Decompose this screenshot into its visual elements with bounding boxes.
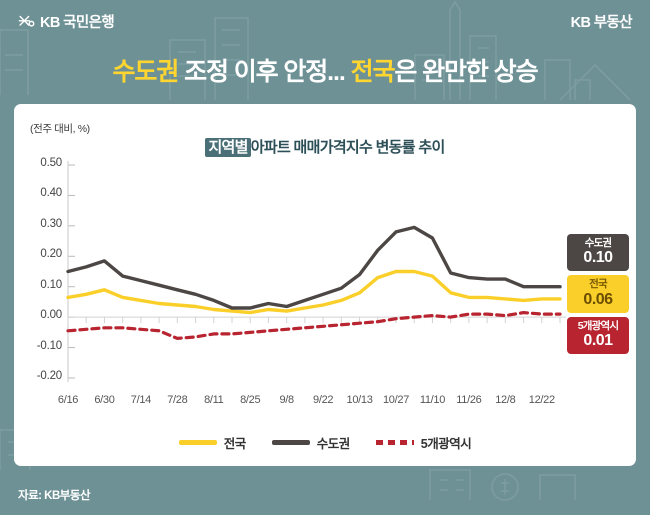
badge-sudogwon-value: 0.10 <box>567 249 629 267</box>
y-axis-tick: 0.30 <box>18 218 62 230</box>
legend-swatch-5metro <box>376 440 414 445</box>
kb-logo[interactable]: KB 국민은행 <box>18 11 114 32</box>
headline-highlight-1: 수도권 <box>113 58 179 86</box>
chart-card: (전주 대비, %) 지역별아파트 매매가격지수 변동률 추이 0.500.40… <box>14 104 636 466</box>
x-axis-tick: 7/14 <box>131 394 151 406</box>
chart-svg <box>14 104 636 466</box>
x-axis-tick: 8/11 <box>204 394 223 406</box>
source-note: 자료: KB부동산 <box>18 487 90 503</box>
chart-legend: 전국 수도권 5개광역시 <box>14 433 636 452</box>
badge-jeonguk-value: 0.06 <box>567 291 629 309</box>
page-title: 수도권 조정 이후 안정... 전국은 완만한 상승 <box>0 52 650 88</box>
x-axis-tick: 8/25 <box>240 394 260 406</box>
x-axis-tick: 12/8 <box>495 394 515 406</box>
x-axis-tick: 6/16 <box>58 394 78 406</box>
y-axis-tick: 0.00 <box>18 309 62 321</box>
y-axis-tick: 0.10 <box>18 279 62 291</box>
kb-brand-right[interactable]: KB 부동산 <box>571 11 632 32</box>
legend-label-sudogwon: 수도권 <box>317 433 350 452</box>
headline-highlight-2: 전국 <box>351 58 395 86</box>
badge-jeonguk-label: 전국 <box>567 278 629 290</box>
top-bar: KB 국민은행 KB 부동산 <box>0 0 650 42</box>
kb-logo-text: KB 국민은행 <box>40 11 114 32</box>
legend-swatch-jeonguk <box>179 440 217 445</box>
badge-sudogwon: 수도권 0.10 <box>567 234 629 271</box>
x-axis-tick: 11/26 <box>456 394 481 406</box>
x-axis-tick: 9/22 <box>313 394 333 406</box>
x-axis-tick: 9/8 <box>279 394 293 406</box>
y-axis-tick: 0.40 <box>18 187 62 199</box>
kb-star-icon <box>18 13 35 30</box>
legend-label-jeonguk: 전국 <box>224 433 246 452</box>
infographic-root: KB 국민은행 KB 부동산 수도권 조정 이후 안정... 전국은 완만한 상… <box>0 0 650 515</box>
plot-area: 0.500.400.300.200.100.00-0.10-0.20 6/166… <box>14 104 636 466</box>
legend-item-jeonguk[interactable]: 전국 <box>179 433 246 452</box>
x-axis-tick: 11/10 <box>420 394 445 406</box>
x-axis-tick: 10/13 <box>347 394 373 406</box>
legend-item-5metro[interactable]: 5개광역시 <box>376 433 471 452</box>
headline-text-2: 은 완만한 상승 <box>394 58 537 86</box>
x-axis-tick: 7/28 <box>167 394 187 406</box>
x-axis-tick: 12/22 <box>529 394 555 406</box>
y-axis-tick: 0.50 <box>18 157 62 169</box>
legend-item-sudogwon[interactable]: 수도권 <box>272 433 350 452</box>
badge-sudogwon-label: 수도권 <box>567 237 629 249</box>
y-axis-tick: -0.10 <box>18 340 62 352</box>
y-axis-tick: 0.20 <box>18 248 62 260</box>
legend-swatch-sudogwon <box>272 440 310 445</box>
badge-5metro-value: 0.01 <box>567 332 629 350</box>
headline-text-1: 조정 이후 안정... <box>178 58 350 86</box>
badge-5metro-label: 5개광역시 <box>567 320 629 332</box>
legend-label-5metro: 5개광역시 <box>421 433 471 452</box>
x-axis-tick: 6/30 <box>94 394 114 406</box>
y-axis-tick: -0.20 <box>18 370 62 382</box>
x-axis-tick: 10/27 <box>383 394 409 406</box>
badge-5metro: 5개광역시 0.01 <box>567 317 629 354</box>
badge-jeonguk: 전국 0.06 <box>567 275 629 312</box>
value-badge-group: 수도권 0.10 전국 0.06 5개광역시 0.01 <box>567 234 629 354</box>
